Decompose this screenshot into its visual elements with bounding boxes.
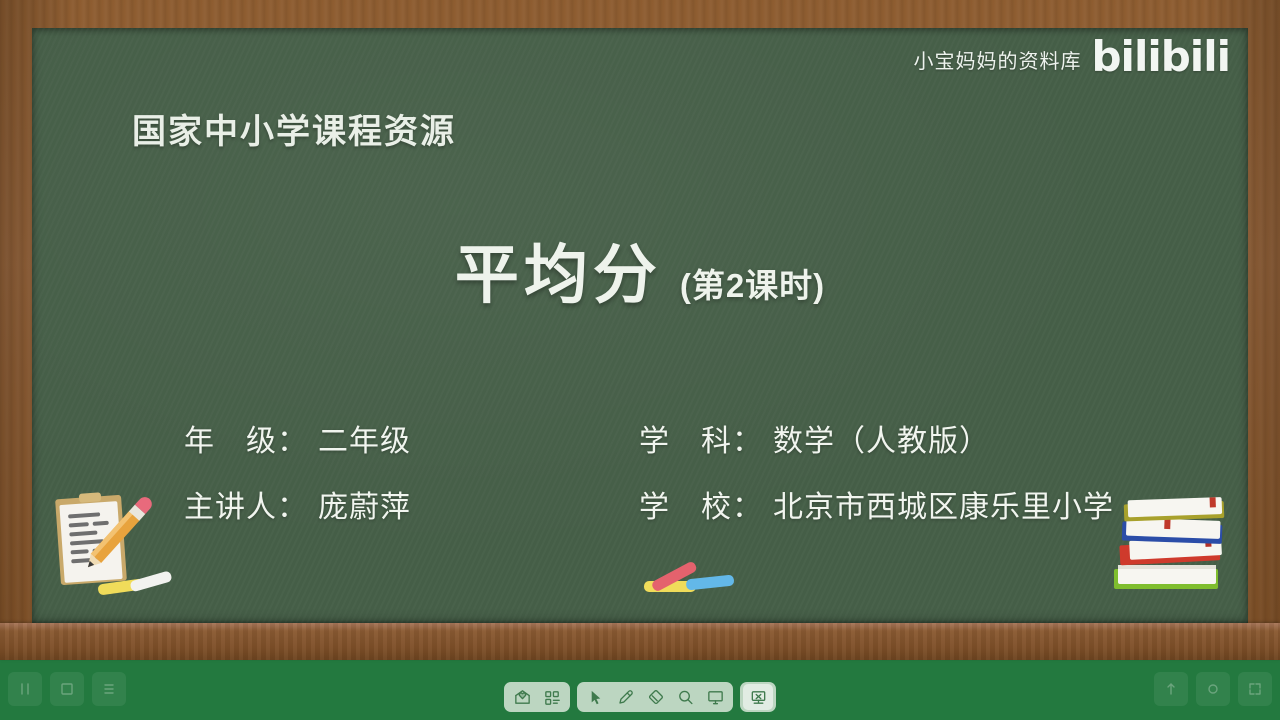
bar-button-6[interactable]: [1238, 672, 1272, 706]
magnifier-icon[interactable]: [670, 684, 700, 710]
presentation-toolbar: [504, 682, 776, 712]
book-green: [1114, 565, 1218, 589]
info-label-teacher: 主讲人：: [184, 482, 308, 526]
book-blue: [1122, 517, 1223, 543]
info-value-teacher: 庞蔚萍: [318, 482, 411, 526]
chalk-sticks-decoration: [632, 555, 742, 605]
bar-button-5[interactable]: [1196, 672, 1230, 706]
exit-presentation-icon[interactable]: [743, 684, 773, 710]
toolbar-group-2: [577, 682, 733, 712]
watermark-text: 小宝妈妈的资料库: [913, 45, 1081, 74]
chalk-blue: [686, 575, 735, 591]
toolbar-group-3: [740, 682, 776, 712]
bottom-bar-right-buttons: [1154, 672, 1272, 706]
presentation-stage: 小宝妈妈的资料库 bilibili 国家中小学课程资源 平均分 (第2课时) 年…: [0, 0, 1280, 720]
envelope-icon[interactable]: [507, 684, 537, 710]
info-value-grade: 二年级: [318, 416, 411, 460]
blackboard-surface: 小宝妈妈的资料库 bilibili 国家中小学课程资源 平均分 (第2课时) 年…: [32, 28, 1248, 623]
clipboard-decoration: [46, 483, 176, 603]
lesson-info-block: 年 级： 二年级 学 科： 数学（人教版） 主讲人： 庞蔚萍 学 校： 北京市西…: [184, 416, 1194, 548]
bottom-bar-left-buttons: [8, 672, 126, 706]
bilibili-logo: bilibili: [1091, 36, 1230, 78]
layout-list-icon[interactable]: [537, 684, 567, 710]
lesson-title: 平均分: [455, 224, 662, 316]
info-row: 主讲人： 庞蔚萍 学 校： 北京市西城区康乐里小学: [184, 482, 1194, 526]
info-subject: 学 科： 数学（人教版）: [639, 416, 1194, 460]
eraser-icon[interactable]: [640, 684, 670, 710]
bar-button-4[interactable]: [1154, 672, 1188, 706]
info-label-subject: 学 科：: [639, 416, 763, 460]
lesson-title-row: 平均分 (第2课时): [32, 224, 1248, 316]
info-label-school: 学 校：: [639, 482, 763, 526]
info-row: 年 级： 二年级 学 科： 数学（人教版）: [184, 416, 1194, 460]
chalk-ledge: [0, 623, 1280, 660]
screen-icon[interactable]: [700, 684, 730, 710]
bar-button-1[interactable]: [8, 672, 42, 706]
cursor-icon[interactable]: [580, 684, 610, 710]
lesson-subtitle: (第2课时): [680, 259, 825, 307]
bar-button-2[interactable]: [50, 672, 84, 706]
info-value-school: 北京市西城区康乐里小学: [773, 482, 1114, 526]
book-olive: [1124, 497, 1225, 521]
info-label-grade: 年 级：: [184, 416, 308, 460]
info-value-subject: 数学（人教版）: [773, 416, 990, 460]
watermark: 小宝妈妈的资料库 bilibili: [913, 38, 1230, 80]
chalk-white: [129, 570, 172, 592]
pencil-icon[interactable]: [610, 684, 640, 710]
bar-button-3[interactable]: [92, 672, 126, 706]
info-grade: 年 级： 二年级: [184, 416, 639, 460]
info-teacher: 主讲人： 庞蔚萍: [184, 482, 639, 526]
books-decoration: [1106, 485, 1236, 605]
page-header-title: 国家中小学课程资源: [132, 104, 456, 153]
toolbar-group-1: [504, 682, 570, 712]
